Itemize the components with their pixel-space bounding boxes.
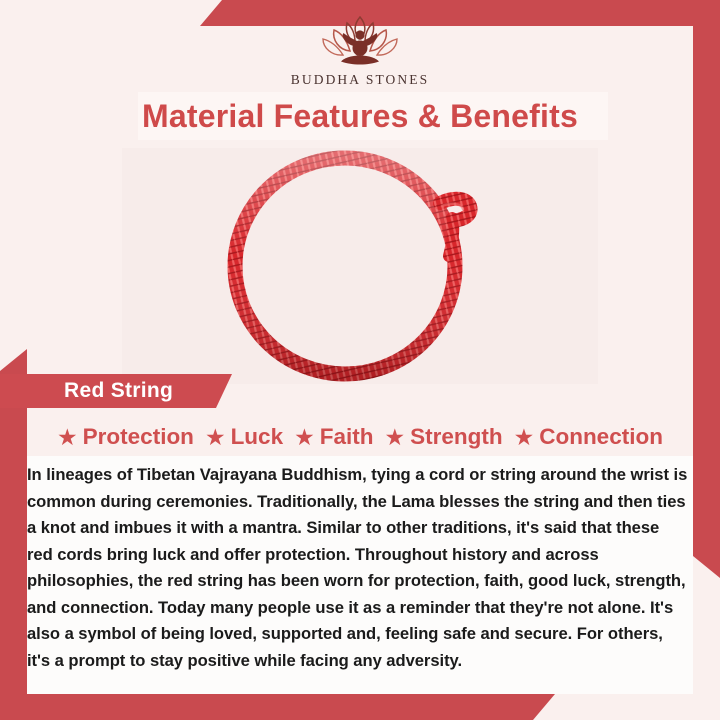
feature-item-connection: ★ Connection <box>514 424 663 450</box>
feature-item-protection: ★ Protection <box>57 424 194 450</box>
feature-item-luck: ★ Luck <box>205 424 283 450</box>
brand-logo: BUDDHA STONES <box>0 14 720 96</box>
feature-label: Strength <box>410 424 503 450</box>
material-banner-label: Red String <box>64 374 173 408</box>
description-text: In lineages of Tibetan Vajrayana Buddhis… <box>27 462 689 674</box>
description-block: In lineages of Tibetan Vajrayana Buddhis… <box>27 456 693 694</box>
product-image <box>122 148 598 384</box>
feature-list: ★ Protection ★ Luck ★ Faith ★ Strength ★… <box>27 419 693 455</box>
feature-label: Protection <box>83 424 194 450</box>
feature-item-strength: ★ Strength <box>384 424 502 450</box>
brand-name: BUDDHA STONES <box>291 72 429 88</box>
star-icon: ★ <box>57 426 78 449</box>
star-icon: ★ <box>514 426 535 449</box>
star-icon: ★ <box>205 426 226 449</box>
star-icon: ★ <box>384 426 405 449</box>
feature-label: Faith <box>320 424 374 450</box>
frame-band-bottom <box>0 694 555 720</box>
feature-item-faith: ★ Faith <box>294 424 373 450</box>
lotus-meditation-icon <box>314 14 406 70</box>
page-title: Material Features & Benefits <box>0 92 720 140</box>
star-icon: ★ <box>294 426 315 449</box>
feature-label: Connection <box>539 424 663 450</box>
material-features-poster: BUDDHA STONES Material Features & Benefi… <box>0 0 720 720</box>
feature-label: Luck <box>231 424 284 450</box>
